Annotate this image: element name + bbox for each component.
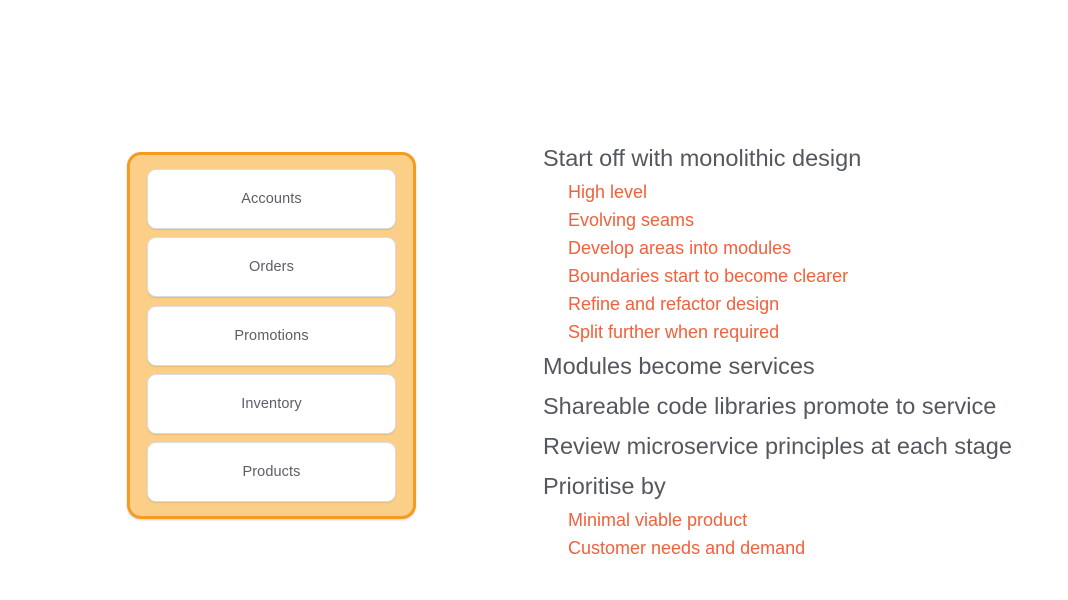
outline-item-sub: Evolving seams (568, 206, 1043, 234)
outline-item-sub: Refine and refactor design (568, 290, 1043, 318)
outline-item-heading: Prioritise by (543, 466, 1043, 506)
outline-item-sub: Split further when required (568, 318, 1043, 346)
outline-item-heading: Start off with monolithic design (543, 138, 1043, 178)
module-card-label: Orders (249, 259, 294, 275)
slide-canvas: Accounts Orders Promotions Inventory Pro… (0, 0, 1068, 600)
monolith-container: Accounts Orders Promotions Inventory Pro… (127, 152, 416, 519)
outline-item-heading: Shareable code libraries promote to serv… (543, 386, 1043, 426)
module-card-orders[interactable]: Orders (147, 237, 396, 297)
module-card-accounts[interactable]: Accounts (147, 169, 396, 229)
module-card-label: Promotions (234, 328, 308, 344)
outline-item-sub: Develop areas into modules (568, 234, 1043, 262)
outline-item-sub: Customer needs and demand (568, 534, 1043, 562)
module-card-label: Products (242, 464, 300, 480)
outline-item-sub: Minimal viable product (568, 506, 1043, 534)
module-card-products[interactable]: Products (147, 442, 396, 502)
module-card-promotions[interactable]: Promotions (147, 306, 396, 366)
module-card-label: Inventory (241, 396, 302, 412)
outline-item-heading: Modules become services (543, 346, 1043, 386)
module-card-label: Accounts (241, 191, 301, 207)
outline-item-sub: High level (568, 178, 1043, 206)
module-card-inventory[interactable]: Inventory (147, 374, 396, 434)
outline-item-heading: Review microservice principles at each s… (543, 426, 1043, 466)
outline-item-sub: Boundaries start to become clearer (568, 262, 1043, 290)
outline-list: Start off with monolithic design High le… (543, 138, 1043, 562)
